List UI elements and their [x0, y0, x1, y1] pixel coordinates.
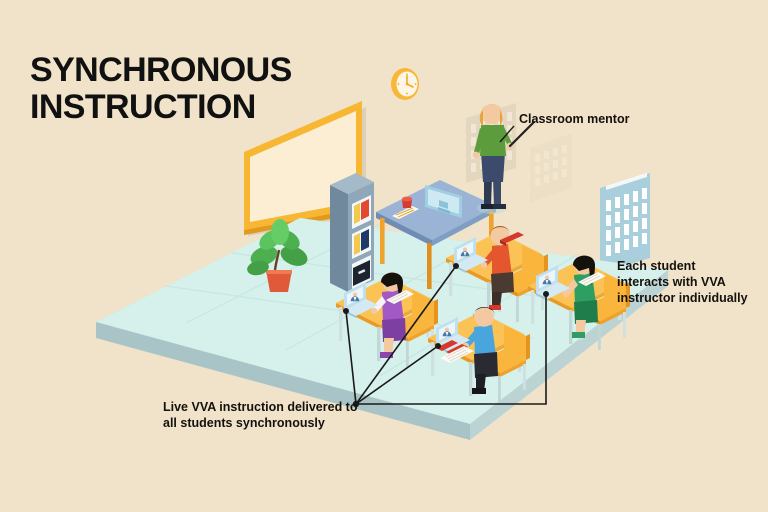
- callout-each-student: Each student interacts with VVA instruct…: [617, 258, 748, 306]
- wall-clock-icon: [391, 68, 419, 100]
- callout-live-instruction: Live VVA instruction delivered to all st…: [163, 399, 357, 431]
- callout-classroom-mentor: Classroom mentor: [519, 112, 629, 128]
- page-title: SYNCHRONOUS INSTRUCTION: [30, 52, 292, 125]
- infographic-canvas: SYNCHRONOUS INSTRUCTION Classroom mentor…: [0, 0, 768, 512]
- bookshelf: [330, 173, 374, 292]
